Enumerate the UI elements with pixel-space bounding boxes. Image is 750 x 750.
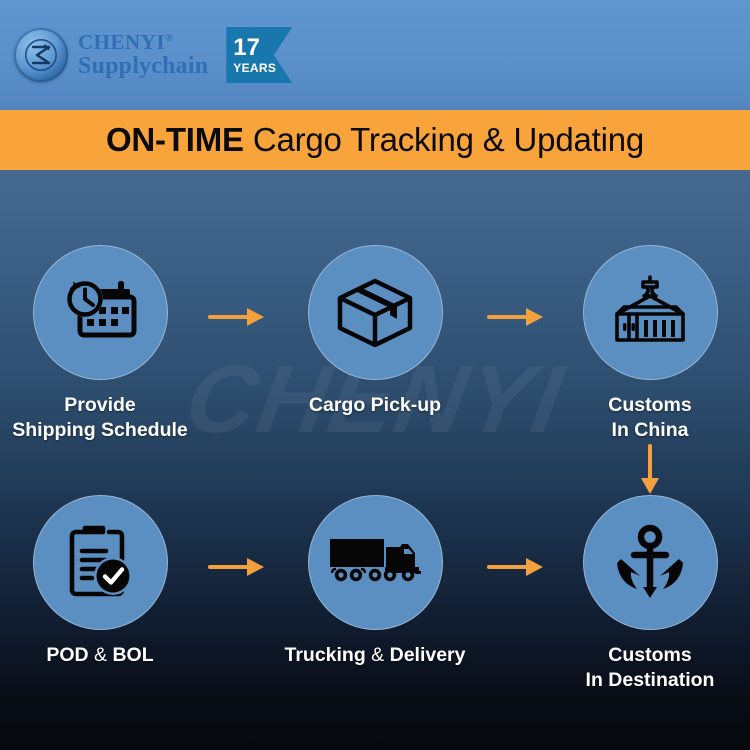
- step-label: Provide Shipping Schedule: [0, 393, 200, 443]
- step-label-line1: Cargo Pick-up: [275, 393, 475, 418]
- step-label-line1: Trucking & Delivery: [275, 643, 475, 668]
- step-icon-circle: [33, 245, 168, 380]
- headline-bold: ON-TIME: [106, 121, 244, 158]
- arrow-step3-to-step6: [639, 444, 661, 496]
- headline-normal: Cargo Tracking & Updating: [244, 121, 644, 158]
- steps-grid: Provide Shipping Schedule: [0, 170, 750, 750]
- step-icon-circle: [583, 495, 718, 630]
- step-icon-circle: [583, 245, 718, 380]
- step-label: Customs In China: [550, 393, 750, 443]
- step-label-line2: In China: [550, 418, 750, 443]
- arrow-step4-to-step5: [208, 556, 266, 578]
- step-customs-in-destination[interactable]: Customs In Destination: [550, 495, 750, 693]
- arrow-step5-to-step6: [487, 556, 545, 578]
- step-cargo-pick-up[interactable]: Cargo Pick-up: [275, 245, 475, 418]
- step-label: Customs In Destination: [550, 643, 750, 693]
- step-label-line1: POD & BOL: [0, 643, 200, 668]
- chenyi-logo-icon: [14, 28, 68, 82]
- years-badge-label: YEARS: [233, 62, 276, 74]
- step-label-line1: Customs: [550, 643, 750, 668]
- step-label-line2: Shipping Schedule: [0, 418, 200, 443]
- brand-text: CHENYI® Supplychain: [78, 32, 208, 78]
- years-badge: 17 YEARS: [226, 27, 292, 83]
- step-icon-circle: [308, 495, 443, 630]
- brand-logo: CHENYI® Supplychain 17 YEARS: [14, 27, 292, 83]
- step-trucking-and-delivery[interactable]: Trucking & Delivery: [275, 495, 475, 668]
- step-provide-shipping-schedule[interactable]: Provide Shipping Schedule: [0, 245, 200, 443]
- cargo-tracking-infographic: CHENYI® Supplychain 17 YEARS ON-TIME Car…: [0, 0, 750, 750]
- headline-banner: ON-TIME Cargo Tracking & Updating: [0, 110, 750, 170]
- step-icon-circle: [308, 245, 443, 380]
- process-flow-section: CHENYI: [0, 170, 750, 750]
- cardboard-box-icon: [334, 275, 416, 351]
- step-label-line1: Customs: [550, 393, 750, 418]
- step-pod-and-bol[interactable]: POD & BOL: [0, 495, 200, 668]
- step-label: Cargo Pick-up: [275, 393, 475, 418]
- calendar-clock-icon: [60, 277, 140, 349]
- step-label: POD & BOL: [0, 643, 200, 668]
- step-label-line1: Provide: [0, 393, 200, 418]
- registered-mark: ®: [165, 32, 174, 44]
- headline-text: ON-TIME Cargo Tracking & Updating: [106, 121, 644, 159]
- page-header: CHENYI® Supplychain 17 YEARS: [0, 0, 750, 110]
- arrow-step1-to-step2: [208, 306, 266, 328]
- step-icon-circle: [33, 495, 168, 630]
- step-label-line2: In Destination: [550, 668, 750, 693]
- brand-line1: CHENYI®: [78, 32, 208, 53]
- anchor-icon: [607, 523, 693, 603]
- brand-line2: Supplychain: [78, 54, 208, 78]
- arrow-step2-to-step3: [487, 306, 545, 328]
- step-customs-in-china[interactable]: Customs In China: [550, 245, 750, 443]
- step-label: Trucking & Delivery: [275, 643, 475, 668]
- clipboard-check-icon: [61, 523, 139, 603]
- container-crane-icon: [604, 273, 696, 353]
- years-badge-number: 17: [233, 36, 260, 60]
- truck-icon: [327, 533, 423, 593]
